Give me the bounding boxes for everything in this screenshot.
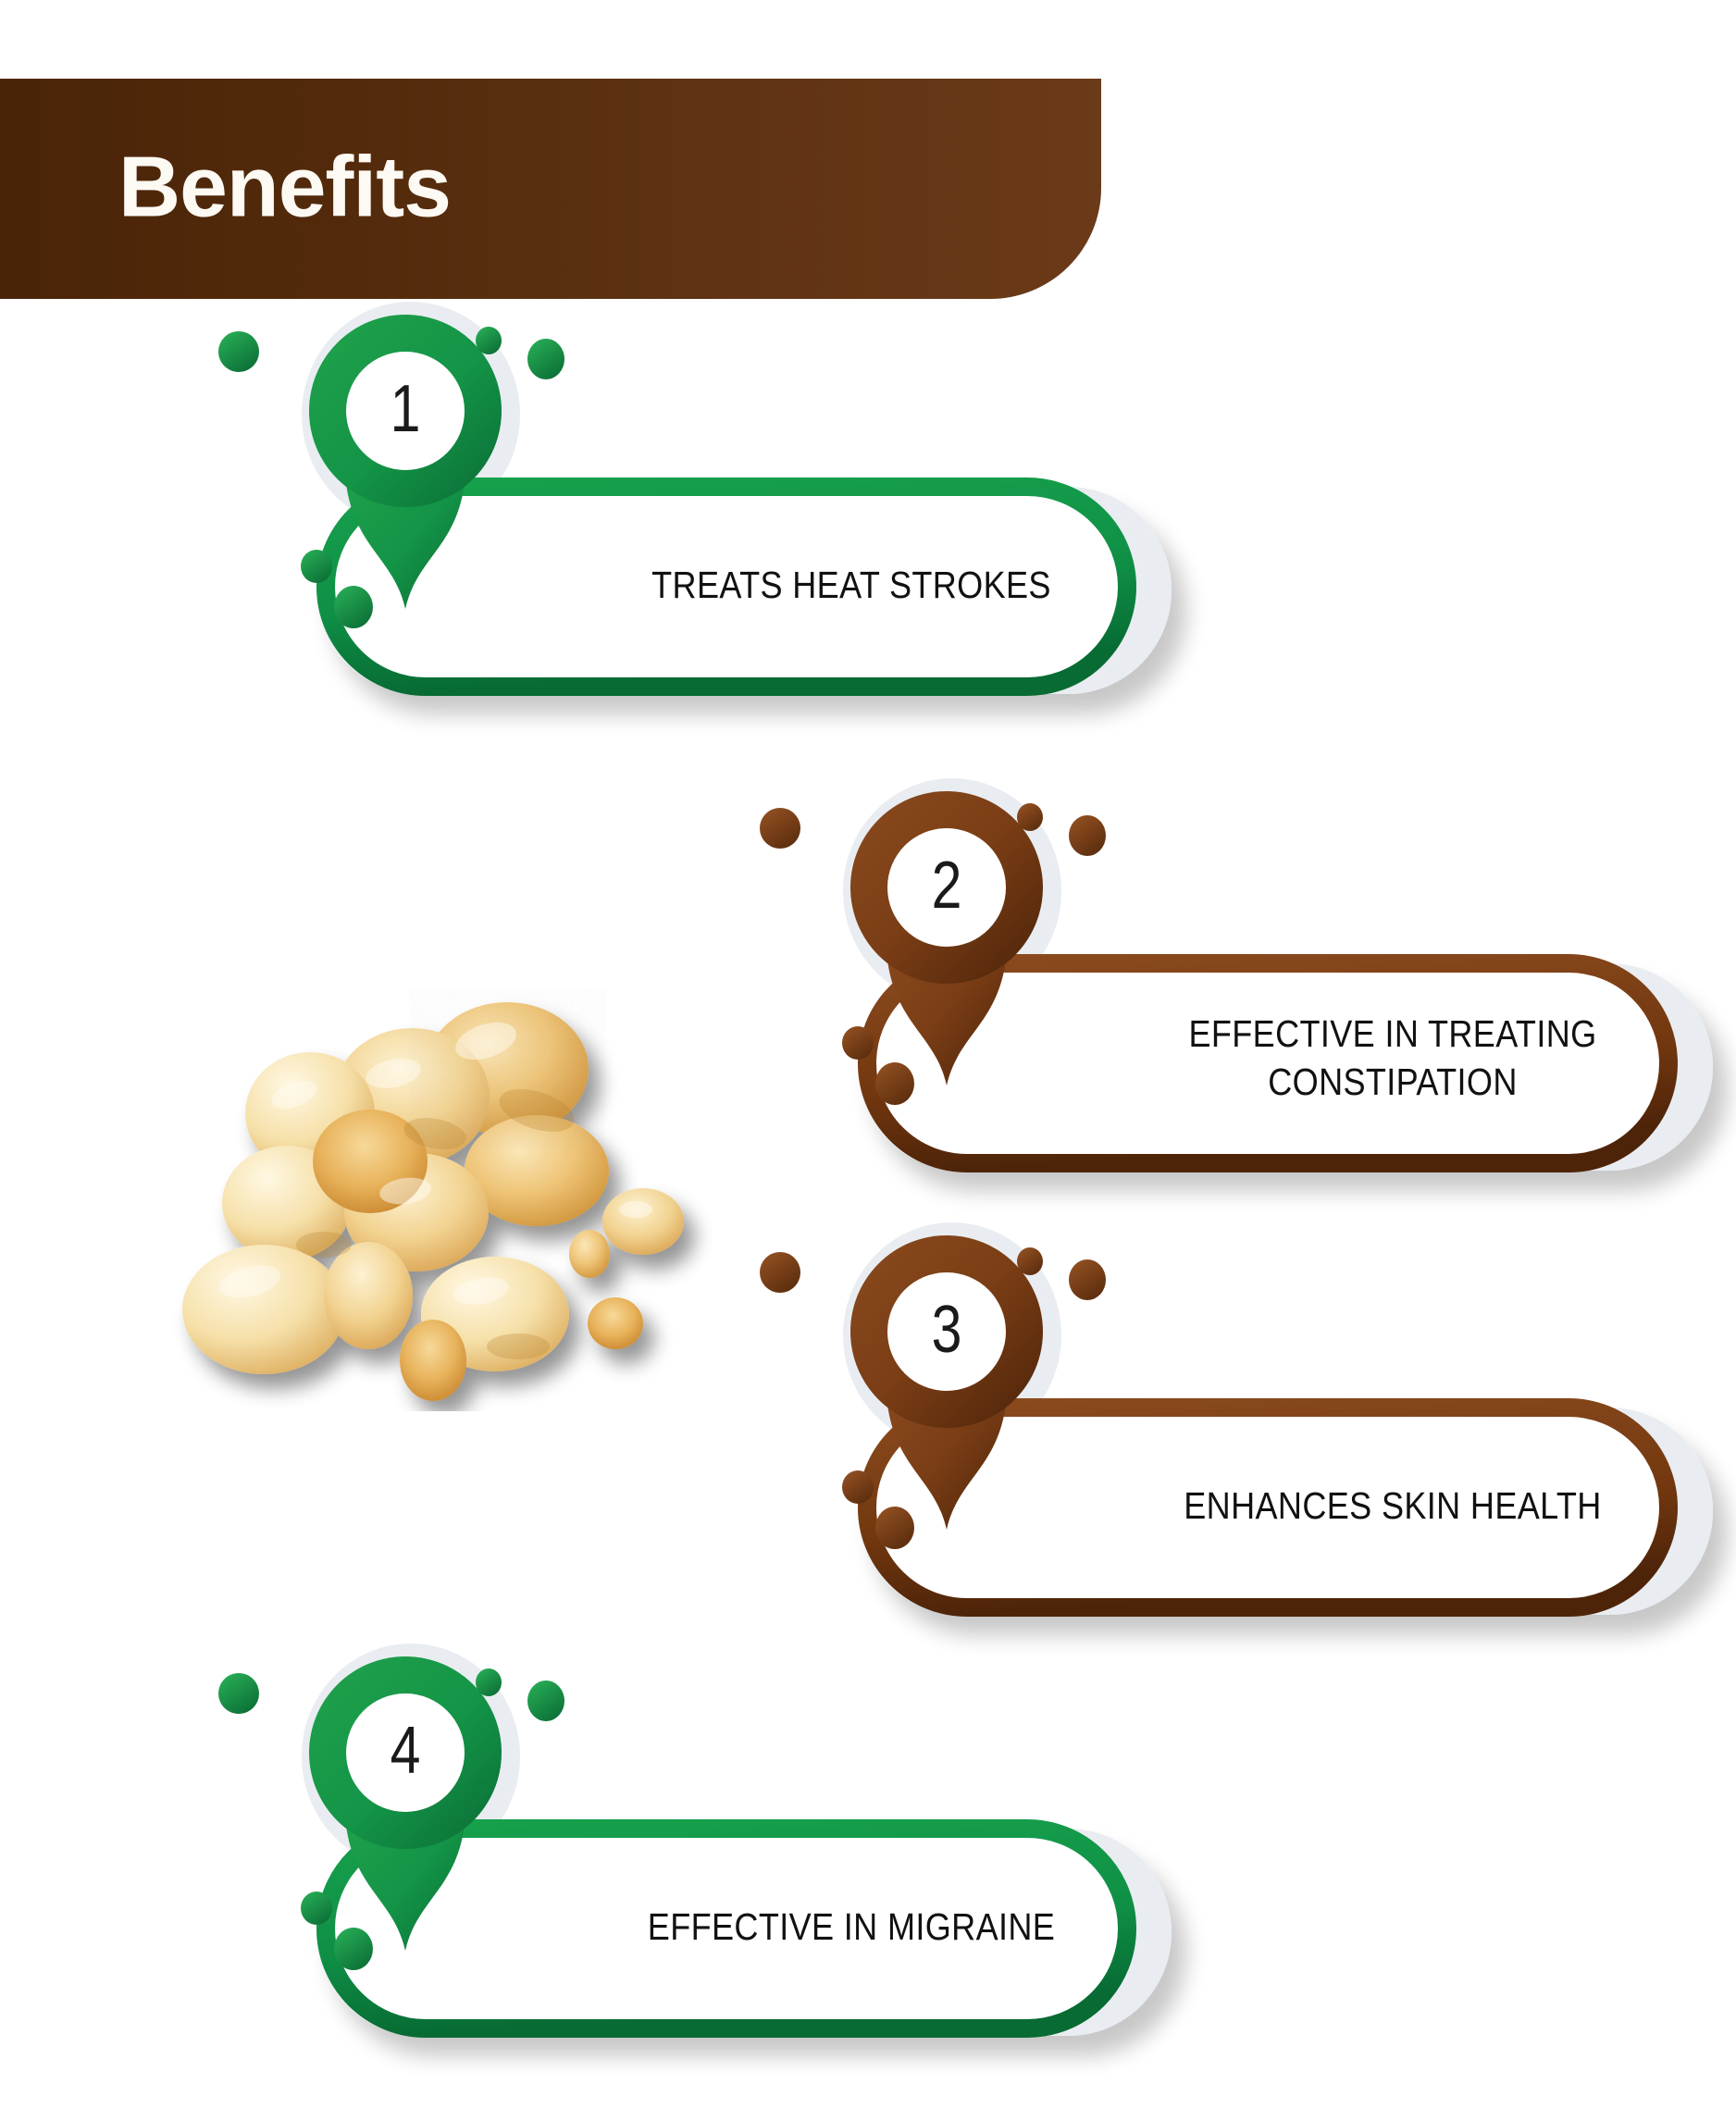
- benefit-label-2: EFFECTIVE IN TREATING CONSTIPATION: [1108, 1010, 1678, 1107]
- benefit-item-2[interactable]: 2 EFFECTIVE IN TREATING CONSTIPATION: [837, 791, 1736, 1180]
- benefit-number-2: 2: [901, 852, 992, 919]
- gum-resin-photo: [139, 976, 713, 1411]
- benefit-number-3: 3: [901, 1296, 992, 1363]
- benefit-item-1[interactable]: 1 TREATS HEAT STROKES: [296, 315, 1259, 703]
- benefit-label-4: EFFECTIVE IN MIGRAINE: [566, 1903, 1136, 1951]
- benefit-number-1: 1: [360, 376, 451, 442]
- benefit-label-3: ENHANCES SKIN HEALTH: [1108, 1482, 1678, 1530]
- page-title: Benefits: [118, 144, 451, 230]
- benefit-item-3[interactable]: 3 ENHANCES SKIN HEALTH: [837, 1235, 1736, 1624]
- benefit-number-4: 4: [360, 1718, 451, 1784]
- infographic-page: Benefits: [0, 0, 1736, 2121]
- benefit-item-4[interactable]: 4 EFFECTIVE IN MIGRAINE: [296, 1656, 1259, 2045]
- benefit-label-1: TREATS HEAT STROKES: [566, 561, 1136, 609]
- header-banner: Benefits: [0, 79, 1101, 299]
